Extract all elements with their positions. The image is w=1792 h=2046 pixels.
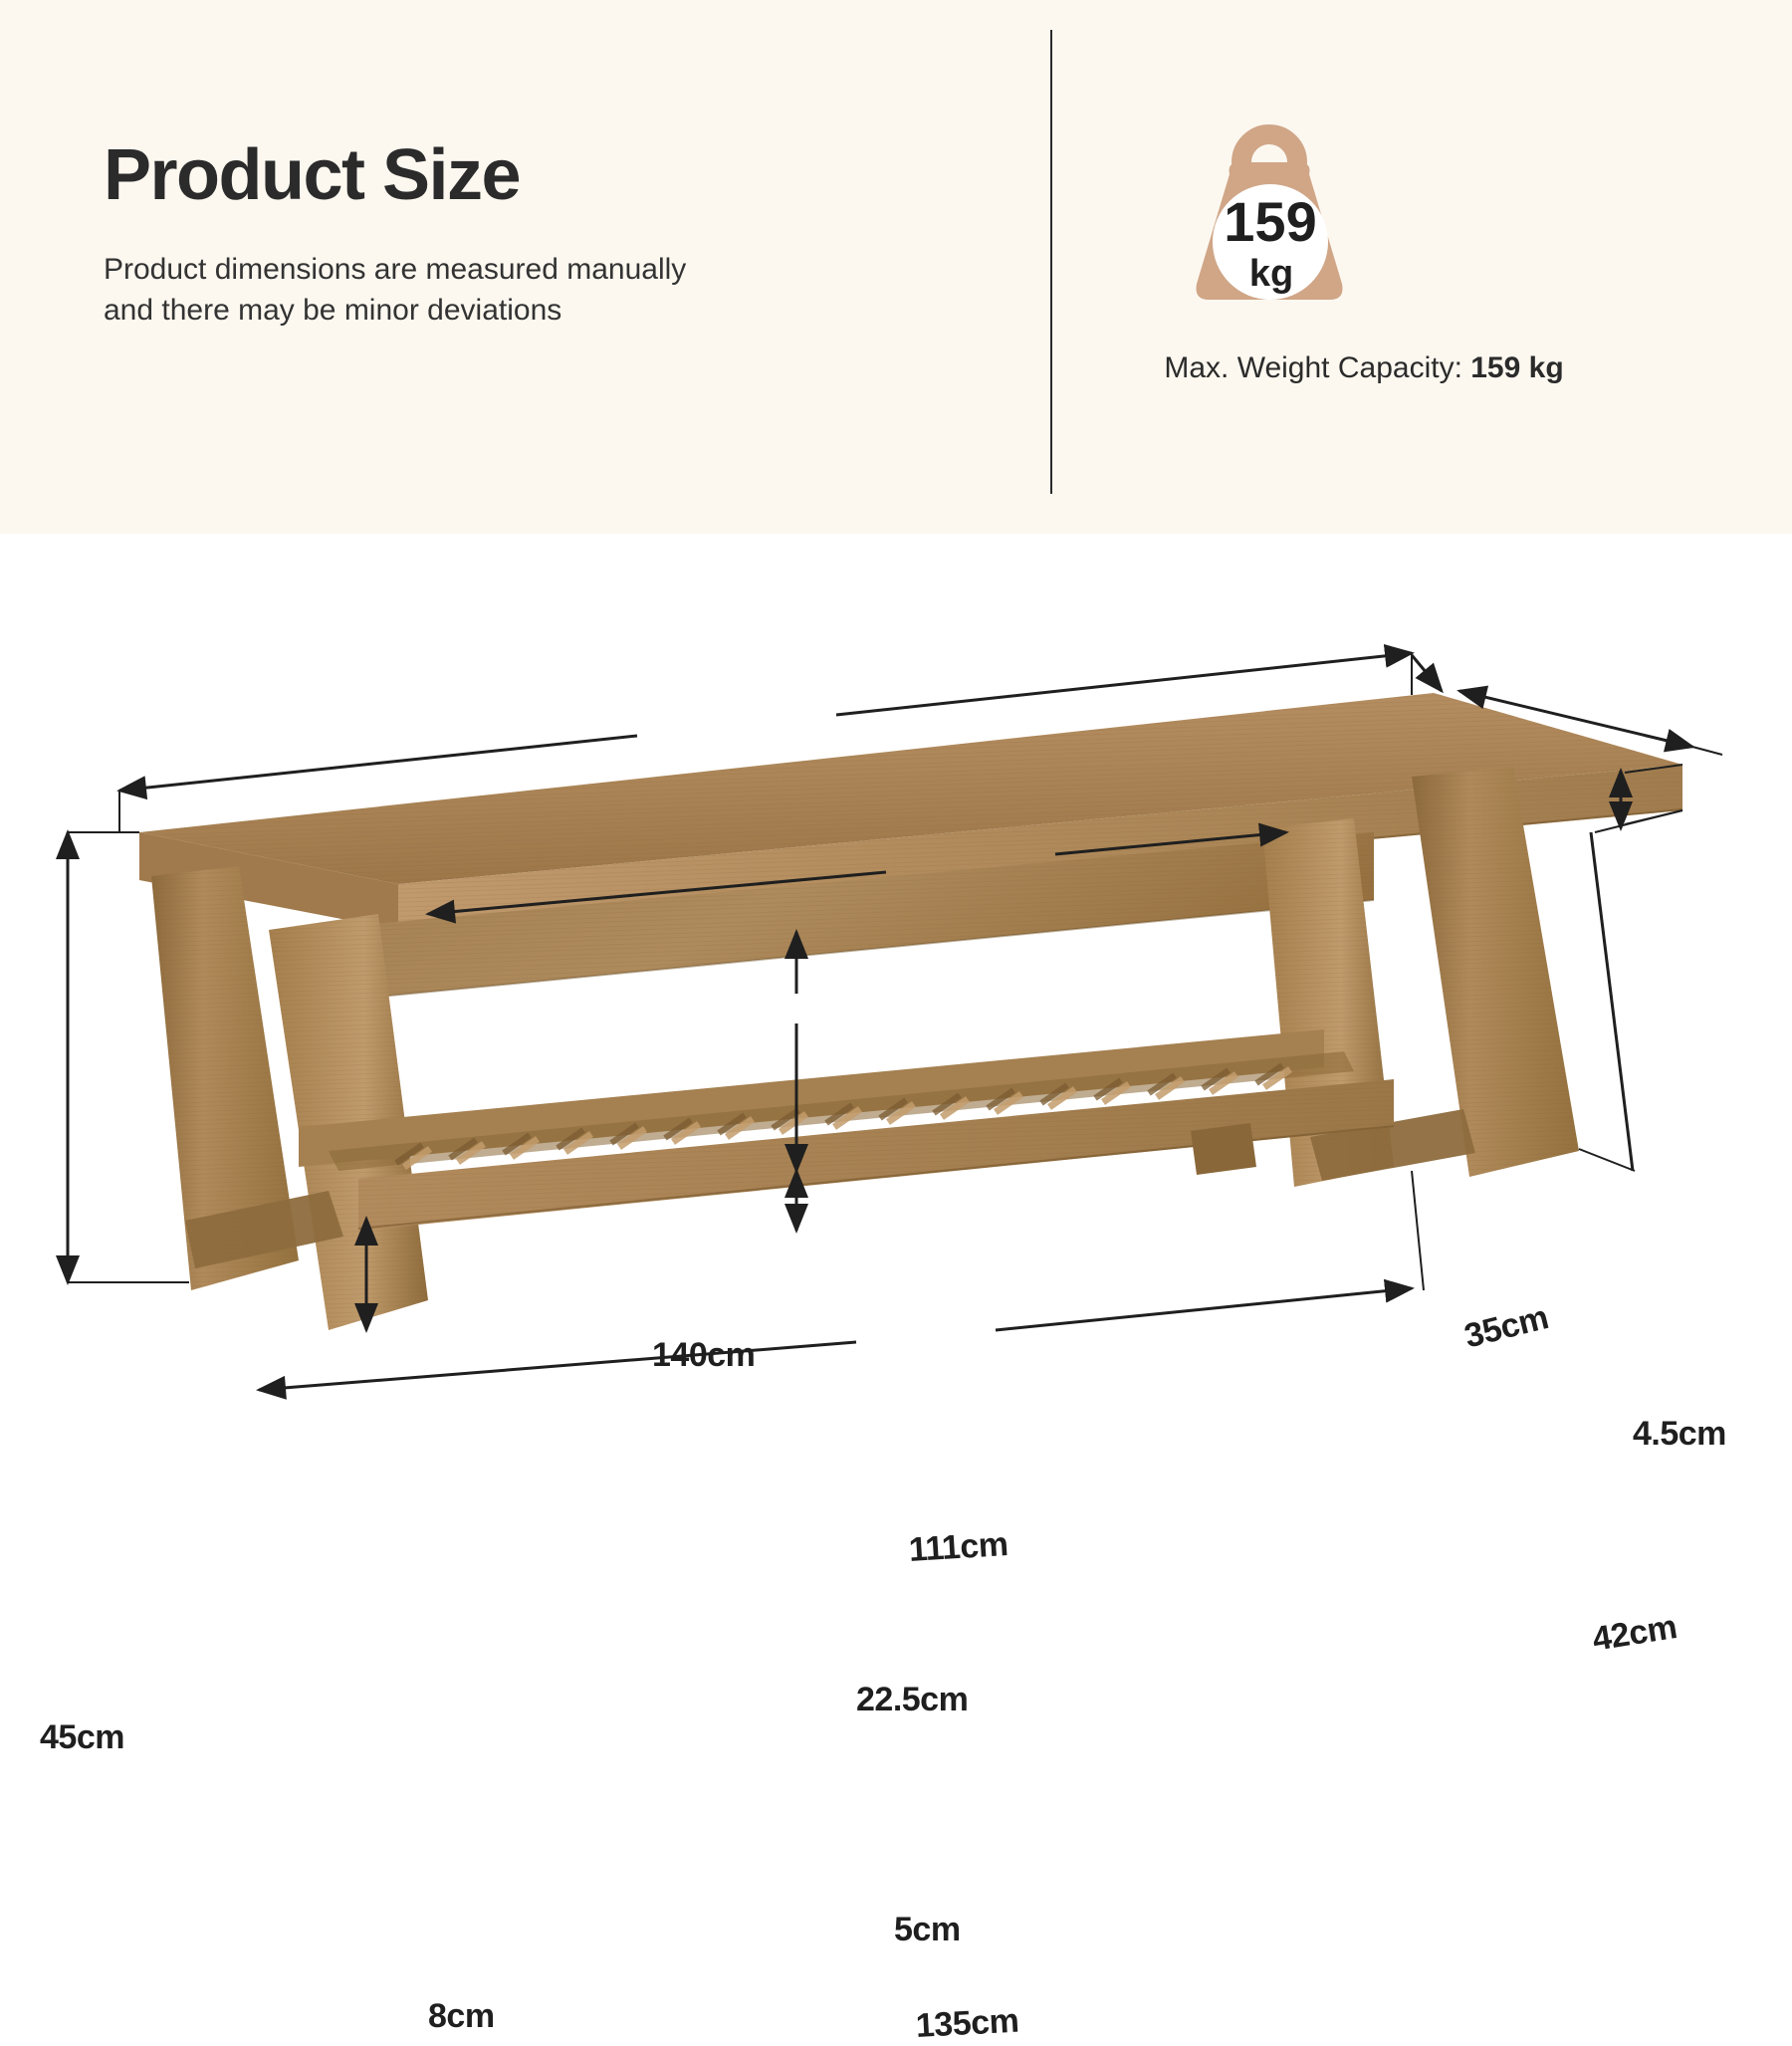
bench-body: [139, 693, 1682, 1330]
weight-capacity-label: Max. Weight Capacity:: [1164, 351, 1470, 384]
product-diagram: 140cm 35cm 4.5cm 111cm 42cm 45cm 22.5cm …: [0, 534, 1792, 1792]
dimension-label-top-thickness: 4.5cm: [1633, 1415, 1726, 1454]
dimension-label-floor-clearance: 8cm: [428, 1997, 495, 2036]
weight-capacity-block: 159 kg Max. Weight Capacity: 159 kg: [1055, 110, 1752, 408]
subtitle-line-1: Product dimensions are measured manually: [104, 249, 781, 290]
header-vertical-divider: [1050, 30, 1052, 494]
page-title: Product Size: [104, 139, 520, 211]
dimension-label-width-top: 140cm: [652, 1336, 755, 1375]
dimension-label-base-width: 135cm: [915, 2002, 1019, 2046]
subtitle-line-2: and there may be minor deviations: [104, 290, 781, 331]
weight-icon-unit: kg: [1249, 253, 1293, 295]
bench-illustration: [0, 534, 1792, 1792]
weight-icon-value: 159: [1224, 190, 1316, 253]
weight-icon: 159 kg: [1175, 124, 1364, 304]
dimension-label-overall-height: 45cm: [40, 1718, 124, 1757]
dimension-label-shelf-clearance: 22.5cm: [856, 1681, 968, 1719]
weight-capacity-value: 159 kg: [1470, 351, 1563, 384]
page-subtitle: Product dimensions are measured manually…: [104, 249, 781, 332]
dimension-label-shelf-thickness: 5cm: [894, 1911, 961, 1949]
infographic-root: Product Size Product dimensions are meas…: [0, 0, 1792, 1792]
weight-capacity-caption: Max. Weight Capacity: 159 kg: [1055, 351, 1673, 385]
header-band: Product Size Product dimensions are meas…: [0, 0, 1792, 534]
dimension-label-inner-span: 111cm: [908, 1525, 1009, 1570]
